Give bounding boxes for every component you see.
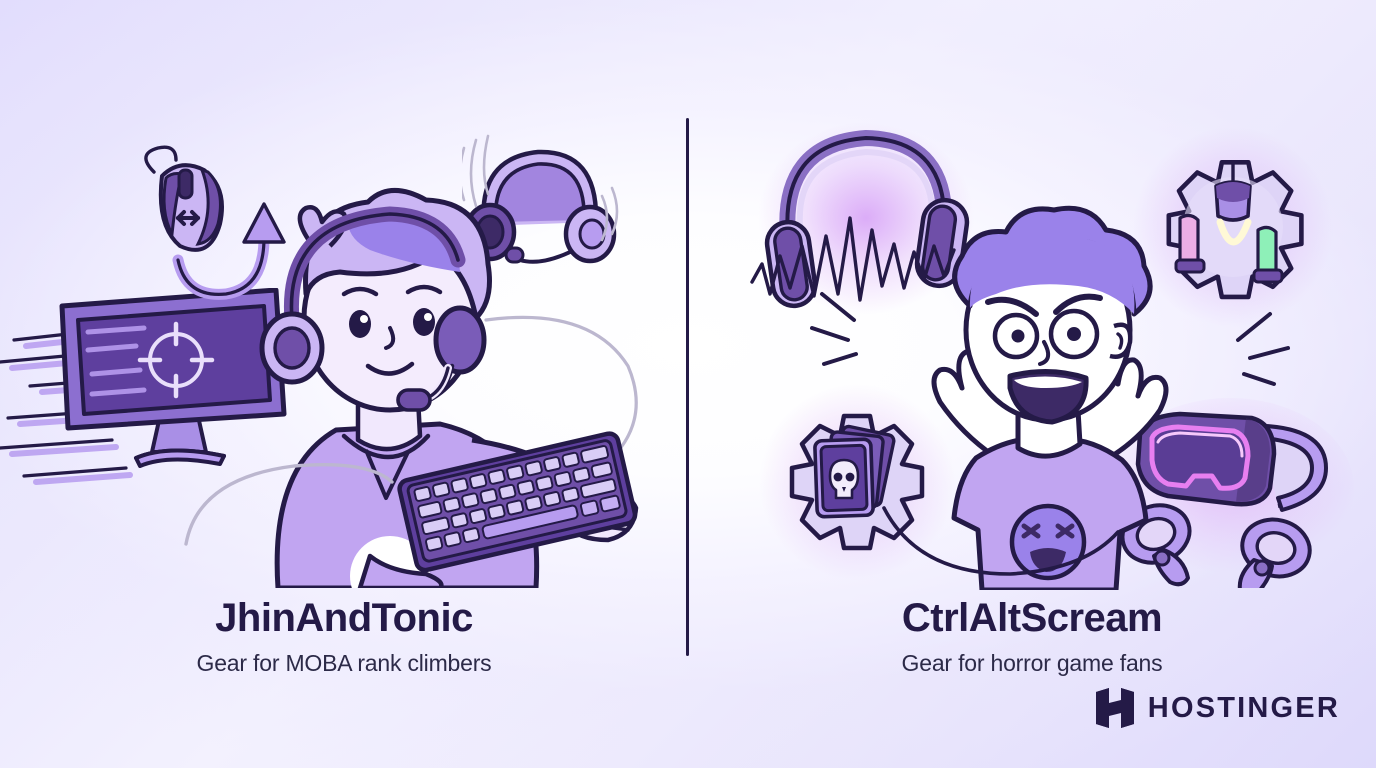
motion-sweep — [878, 478, 1128, 588]
vertical-divider — [686, 118, 689, 656]
left-caption: JhinAndTonic Gear for MOBA rank climbers — [0, 598, 688, 675]
hostinger-h-mark — [1096, 688, 1134, 728]
keyboard-icon — [392, 430, 642, 580]
hostinger-wordmark: HOSTINGER — [1148, 694, 1340, 723]
right-caption: CtrlAltScream Gear for horror game fans — [688, 598, 1376, 675]
right-title: CtrlAltScream — [688, 598, 1376, 638]
poster-canvas: JhinAndTonic Gear for MOBA rank climbers… — [0, 0, 1376, 768]
left-title: JhinAndTonic — [0, 598, 688, 638]
left-subtitle: Gear for MOBA rank climbers — [0, 652, 688, 675]
right-subtitle: Gear for horror game fans — [688, 652, 1376, 675]
hostinger-logo: HOSTINGER — [1096, 688, 1340, 728]
motion-swoosh — [168, 452, 398, 562]
